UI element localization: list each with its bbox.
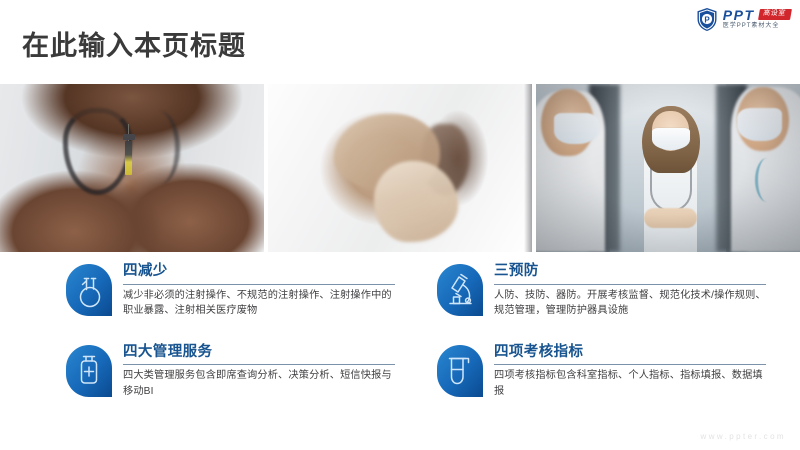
feature-description: 四大类管理服务包含即席查询分析、决策分析、短信快报与移动BI — [123, 368, 395, 399]
svg-text:P: P — [704, 15, 710, 24]
photo-gloved-hands — [268, 84, 532, 252]
feature-description: 减少非必须的注射操作、不规范的注射操作、注射操作中的职业暴露、注射相关医疗废物 — [123, 288, 395, 319]
syringe-barrel-shape — [125, 141, 132, 175]
feature-rule — [123, 364, 395, 365]
feature-title: 四大管理服务 — [123, 344, 395, 361]
photo-doctor-syringe — [0, 84, 264, 252]
logo-badge: 高设室 — [758, 9, 791, 20]
glove-lower-hand-shape — [374, 161, 458, 242]
feature-grid: 四减少 减少非必须的注射操作、不规范的注射操作、注射操作中的职业暴露、注射相关医… — [66, 262, 766, 399]
syringe-plunger-shape — [123, 134, 135, 140]
feature-item[interactable]: 三预防 人防、技防、器防。开展考核监督、规范化技术/操作规则、规范管理，管理防护… — [437, 262, 766, 319]
page-title: 在此输入本页标题 — [22, 24, 246, 63]
brand-logo: P PPT 高设室 医学PPT素材大全 — [696, 6, 790, 32]
site-watermark: www.ppter.com — [701, 432, 786, 441]
photo-strip — [0, 84, 800, 252]
feature-description: 四项考核指标包含科室指标、个人指标、指标填报、数据填报 — [494, 368, 766, 399]
feature-description: 人防、技防、器防。开展考核监督、规范化技术/操作规则、规范管理，管理防护器具设施 — [494, 288, 766, 319]
stethoscope-shape-secondary — [137, 111, 179, 185]
feature-title: 四减少 — [123, 263, 395, 280]
stethoscope-shape — [63, 108, 132, 195]
logo-brand-text: PPT — [723, 8, 755, 22]
logo-tagline: 医学PPT素材大全 — [723, 23, 790, 31]
feature-title: 三预防 — [494, 263, 766, 280]
microscope-icon — [437, 264, 483, 316]
feature-rule — [494, 284, 766, 285]
feature-rule — [123, 284, 395, 285]
photo-right-edge-shade — [524, 84, 532, 252]
feature-rule — [494, 364, 766, 365]
feature-item[interactable]: 四减少 减少非必须的注射操作、不规范的注射操作、注射操作中的职业暴露、注射相关医… — [66, 262, 395, 319]
photo-vignette — [536, 84, 800, 252]
test-tube-icon — [437, 345, 483, 397]
medicine-bottle-icon — [66, 345, 112, 397]
shield-logo-icon: P — [696, 7, 718, 32]
flask-icon — [66, 264, 112, 316]
photo-masked-staff — [536, 84, 800, 252]
feature-item[interactable]: 四项考核指标 四项考核指标包含科室指标、个人指标、指标填报、数据填报 — [437, 343, 766, 400]
feature-item[interactable]: 四大管理服务 四大类管理服务包含即席查询分析、决策分析、短信快报与移动BI — [66, 343, 395, 400]
feature-title: 四项考核指标 — [494, 344, 766, 361]
